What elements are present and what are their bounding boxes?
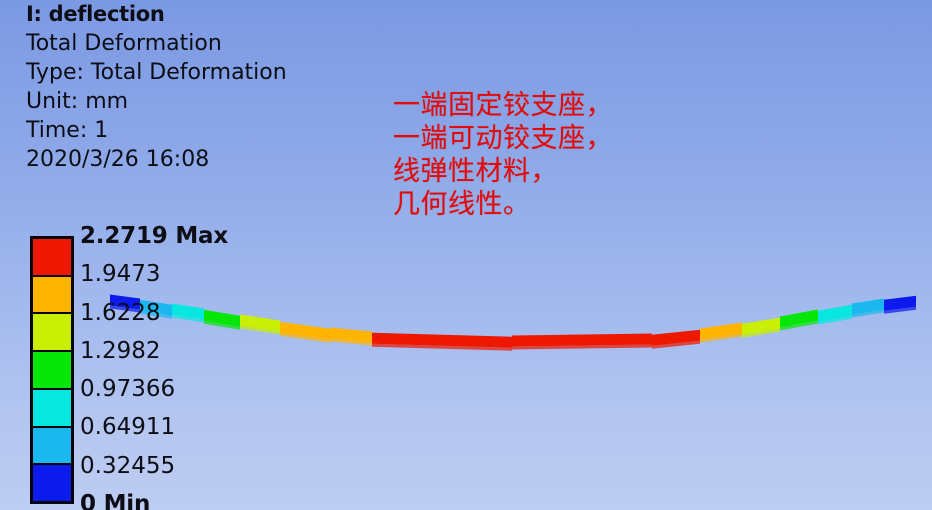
beam-element-edge bbox=[780, 321, 818, 331]
page-title: I: deflection bbox=[26, 4, 287, 25]
legend-label-5: 0.64911 bbox=[80, 416, 175, 439]
beam-element-segment bbox=[818, 305, 852, 322]
legend-band-light-blue[interactable] bbox=[33, 428, 71, 466]
beam-element-segment bbox=[652, 330, 700, 346]
beam-element-segment bbox=[884, 296, 916, 311]
ansys-result-viewport: I: deflection Total Deformation Type: To… bbox=[0, 0, 932, 510]
beam-element-segment bbox=[742, 318, 780, 335]
result-type: Type: Total Deformation bbox=[26, 62, 287, 84]
legend-label-2: 1.6228 bbox=[80, 302, 160, 325]
beam-element-segment bbox=[330, 328, 372, 343]
result-unit: Unit: mm bbox=[26, 91, 287, 113]
beam-element-segment bbox=[280, 322, 330, 340]
annotation-line-4: 几何线性。 bbox=[393, 189, 613, 222]
beam-element-segment bbox=[852, 299, 884, 315]
result-name: Total Deformation bbox=[26, 33, 287, 55]
legend-band-red[interactable] bbox=[33, 239, 71, 277]
legend-band-blue[interactable] bbox=[33, 465, 71, 501]
contour-legend-labels: 2.2719 Max1.94731.62281.29820.973660.649… bbox=[80, 228, 280, 510]
legend-band-orange[interactable] bbox=[33, 277, 71, 315]
beam-element-edge bbox=[742, 329, 780, 338]
beam-element-edge bbox=[512, 345, 652, 350]
beam-element-edge bbox=[280, 333, 330, 343]
annotation-line-1: 一端固定铰支座， bbox=[393, 90, 613, 123]
legend-label-6: 0.32455 bbox=[80, 455, 175, 478]
beam-element-segment bbox=[512, 334, 652, 347]
legend-label-3: 1.2982 bbox=[80, 340, 160, 363]
legend-label-1: 1.9473 bbox=[80, 263, 160, 286]
annotation-line-3: 线弹性材料， bbox=[393, 156, 613, 189]
beam-element-edge bbox=[372, 344, 512, 351]
legend-band-green[interactable] bbox=[33, 352, 71, 390]
result-info-block: I: deflection Total Deformation Type: To… bbox=[26, 4, 287, 178]
legend-label-7: 0 Min bbox=[80, 493, 150, 510]
model-annotation-text: 一端固定铰支座， 一端可动铰支座， 线弹性材料， 几何线性。 bbox=[393, 90, 613, 222]
beam-element-edge bbox=[330, 339, 372, 346]
beam-element-segment bbox=[700, 323, 742, 340]
result-timestamp: 2020/3/26 16:08 bbox=[26, 149, 287, 171]
contour-color-legend[interactable] bbox=[30, 236, 74, 504]
legend-label-0: 2.2719 Max bbox=[80, 225, 228, 248]
beam-element-segment bbox=[780, 310, 818, 328]
legend-label-4: 0.97366 bbox=[80, 378, 175, 401]
annotation-line-2: 一端可动铰支座， bbox=[393, 123, 613, 156]
beam-element-edge bbox=[852, 310, 884, 318]
beam-element-edge bbox=[818, 316, 852, 325]
beam-element-segment bbox=[372, 333, 512, 348]
beam-element-edge bbox=[884, 307, 916, 314]
result-time: Time: 1 bbox=[26, 120, 287, 142]
beam-element-edge bbox=[700, 334, 742, 343]
beam-element-edge bbox=[652, 341, 700, 349]
legend-band-cyan[interactable] bbox=[33, 390, 71, 428]
legend-band-yellow[interactable] bbox=[33, 314, 71, 352]
